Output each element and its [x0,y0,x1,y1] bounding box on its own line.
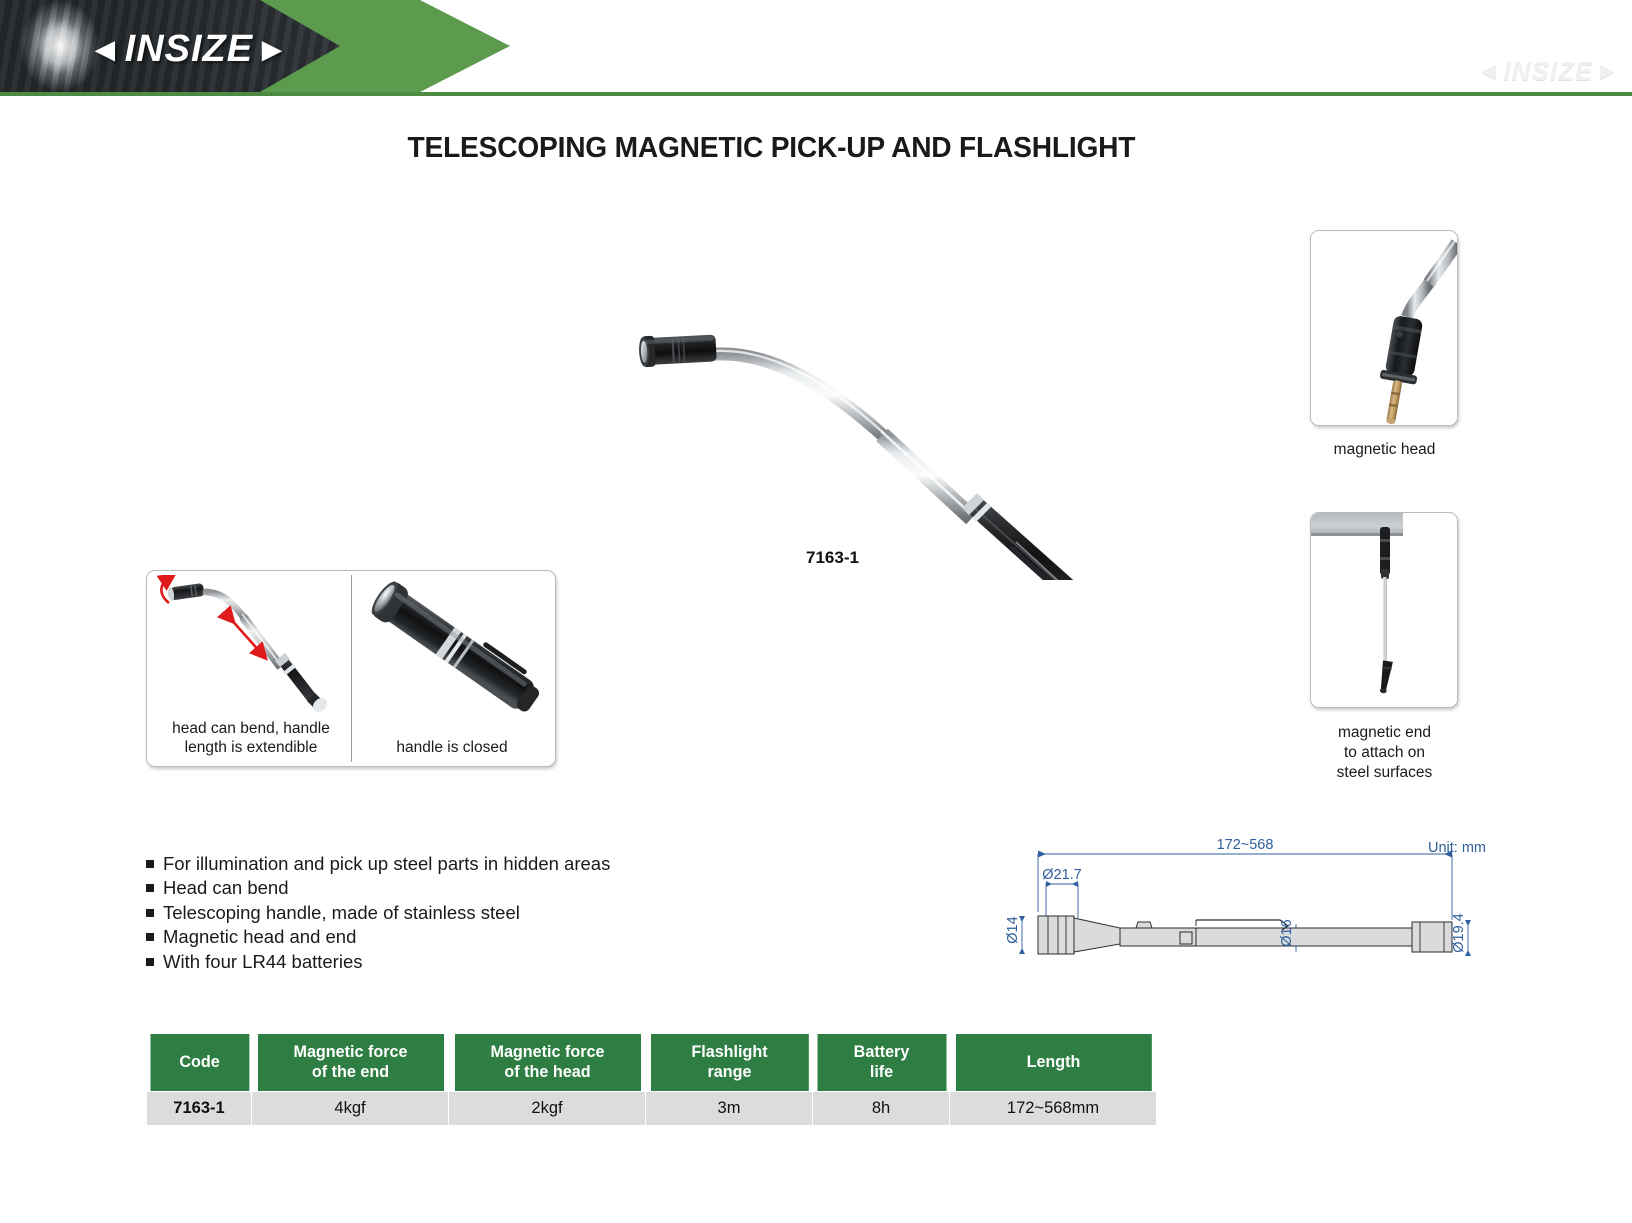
bullet-square-icon [146,860,154,868]
logo-right-arrow-icon: ► [255,33,290,67]
watermark-wordmark: INSIZE [1503,56,1593,87]
bullet-square-icon [146,958,154,966]
th-code-line1: Code [152,1052,247,1072]
th-flashlight-line2: range [652,1062,806,1082]
table-header-row: Code Magnetic force of the end Magnetic … [147,1034,1157,1092]
th-length: Length [955,1034,1152,1092]
watermark-right-arrow-icon: ► [1595,58,1620,86]
cell-magnetic-force-head: 2kgf [449,1091,646,1125]
bullet-square-icon [146,933,154,941]
th-force-head-line1: Magnetic force [456,1042,638,1062]
header-green-rule [0,92,1632,96]
feature-item: Telescoping handle, made of stainless st… [146,901,766,924]
feature-label: With four LR44 batteries [163,950,362,973]
watermark-left-arrow-icon: ◄ [1477,58,1502,86]
th-flashlight-line1: Flashlight [652,1042,806,1062]
caption-head-bends-line2: length is extendible [151,738,351,758]
feature-label: Head can bend [163,876,289,899]
feature-item: With four LR44 batteries [146,950,766,973]
cell-length: 172~568mm [950,1091,1157,1125]
specifications-table: Code Magnetic force of the end Magnetic … [146,1033,1157,1126]
feature-label: Telescoping handle, made of stainless st… [163,901,520,924]
caption-magnetic-head: magnetic head [1297,440,1472,460]
dim-end-diameter: Ø19.4 [1451,913,1467,953]
photo-cell-head-bends: head can bend, handle length is extendib… [151,575,352,762]
th-length-line1: Length [957,1052,1149,1072]
th-magnetic-force-end: Magnetic force of the end [256,1034,443,1092]
drawing-unit-label: Unit: mm [1428,840,1486,856]
feature-item: Magnetic head and end [146,925,766,948]
th-force-end-line2: of the end [259,1062,441,1082]
bullet-square-icon [146,909,154,917]
th-flashlight-range: Flashlight range [650,1034,809,1092]
feature-label: For illumination and pick up steel parts… [163,852,610,875]
cell-magnetic-force-end: 4kgf [252,1091,449,1125]
th-battery-line1: Battery [818,1042,943,1062]
table-row: 7163-1 4kgf 2kgf 3m 8h 172~568mm [147,1091,1157,1125]
cell-code: 7163-1 [147,1091,252,1125]
th-battery-life: Battery life [816,1034,946,1092]
th-force-head-line2: of the head [456,1062,638,1082]
catalog-page: ◄ INSIZE ► ◄ INSIZE ► TELESCOPING MAGNET… [0,0,1632,1223]
caption-magnetic-end-line2: to attach on [1297,743,1472,763]
caption-magnetic-end-line1: magnetic end [1297,723,1472,743]
th-battery-line2: life [818,1062,943,1082]
photo-card-magnetic-head [1310,230,1458,426]
feature-item: For illumination and pick up steel parts… [146,852,766,875]
dim-head-diameter: Ø21.7 [1042,867,1082,883]
photo-cell-handle-closed: handle is closed [352,575,552,762]
dim-overall-length: 172~568 [1217,837,1274,853]
logo-wordmark: INSIZE [125,28,253,71]
hero-product-image [620,290,1160,580]
th-magnetic-force-head: Magnetic force of the head [453,1034,640,1092]
feature-item: Head can bend [146,876,766,899]
cell-flashlight-range: 3m [646,1091,813,1125]
cell-battery-life: 8h [813,1091,950,1125]
insize-watermark-logo: ◄ INSIZE ► [1477,56,1620,87]
bullet-square-icon [146,884,154,892]
caption-magnetic-end-line3: steel surfaces [1297,763,1472,783]
caption-handle-closed: handle is closed [352,738,552,758]
page-title: TELESCOPING MAGNETIC PICK-UP AND FLASHLI… [24,132,1607,165]
technical-drawing: 172~568 Ø21.7 Ø14 Ø16 Ø19.4 Unit: mm [1000,832,1490,980]
feature-photo-panel: head can bend, handle length is extendib… [146,570,556,767]
caption-head-bends-line1: head can bend, handle [151,719,351,739]
dim-body-diameter: Ø16 [1279,919,1295,946]
feature-label: Magnetic head and end [163,925,356,948]
features-list: For illumination and pick up steel parts… [146,852,766,974]
dim-tip-diameter: Ø14 [1005,916,1021,943]
page-header: ◄ INSIZE ► [0,0,1632,96]
hero-product-code: 7163-1 [806,548,859,568]
caption-magnetic-end: magnetic end to attach on steel surfaces [1297,723,1472,782]
photo-card-magnetic-end [1310,512,1458,708]
logo-left-arrow-icon: ◄ [88,33,123,67]
caption-head-bends: head can bend, handle length is extendib… [151,719,351,758]
th-code: Code [149,1034,249,1092]
insize-logo: ◄ INSIZE ► [88,28,290,71]
th-force-end-line1: Magnetic force [259,1042,441,1062]
